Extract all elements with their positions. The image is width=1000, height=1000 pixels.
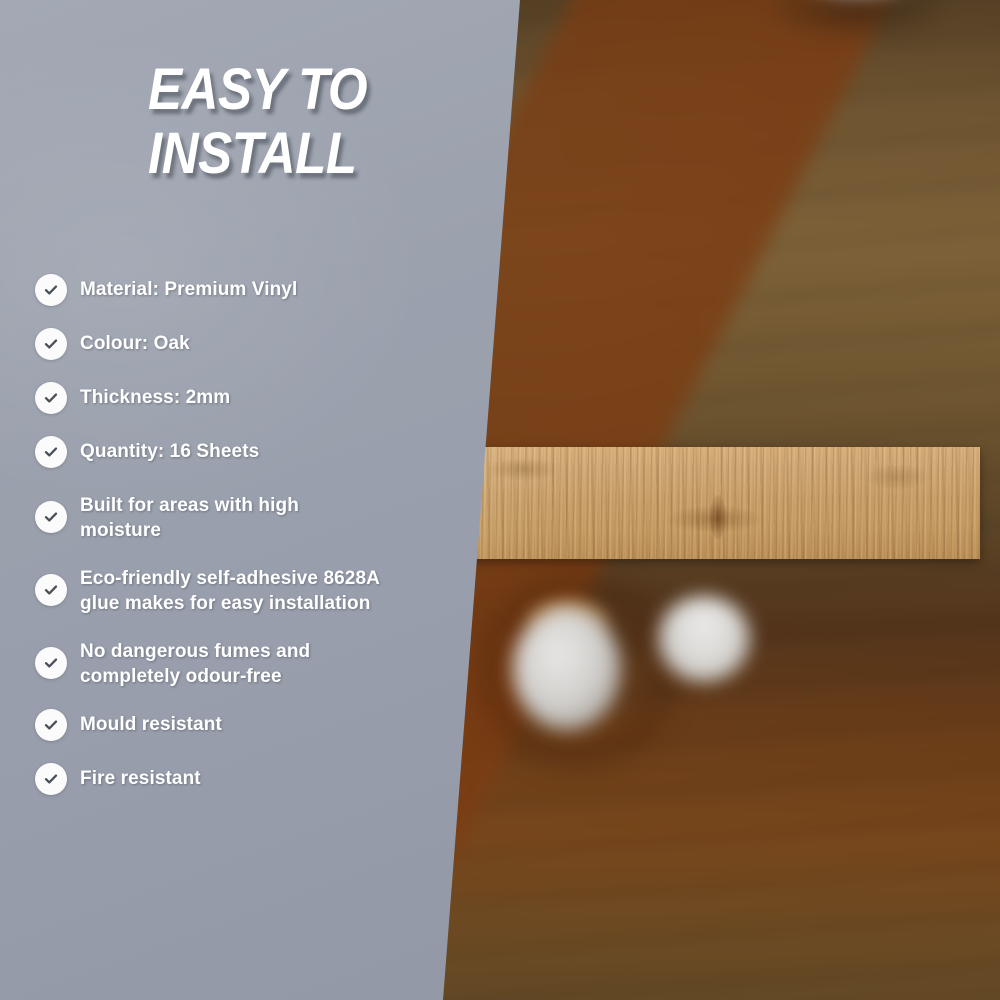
list-item: Fire resistant [35, 763, 395, 795]
feature-label: Material: Premium Vinyl [80, 274, 297, 302]
check-circle-icon [35, 763, 67, 795]
check-circle-icon [35, 647, 67, 679]
list-item: Quantity: 16 Sheets [35, 436, 395, 468]
list-item: No dangerous fumes and completely odour-… [35, 636, 395, 689]
feature-label: Quantity: 16 Sheets [80, 436, 259, 464]
list-item: Material: Premium Vinyl [35, 274, 395, 306]
plank-knot-mark [710, 495, 726, 539]
check-circle-icon [35, 328, 67, 360]
headline: EASY TO INSTALL [148, 58, 438, 186]
feature-label: Thickness: 2mm [80, 382, 230, 410]
list-item: Colour: Oak [35, 328, 395, 360]
check-circle-icon [35, 574, 67, 606]
feature-list: Material: Premium Vinyl Colour: Oak Thic… [35, 274, 395, 817]
check-circle-icon [35, 436, 67, 468]
list-item: Thickness: 2mm [35, 382, 395, 414]
check-circle-icon [35, 382, 67, 414]
product-feature-graphic: EASY TO INSTALL Material: Premium Vinyl … [0, 0, 1000, 1000]
white-pot-left [513, 608, 621, 730]
white-bowl-right [658, 596, 750, 682]
list-item: Mould resistant [35, 709, 395, 741]
feature-label: Built for areas with high moisture [80, 490, 380, 543]
check-circle-icon [35, 501, 67, 533]
feature-label: Colour: Oak [80, 328, 190, 356]
check-circle-icon [35, 274, 67, 306]
feature-label: No dangerous fumes and completely odour-… [80, 636, 380, 689]
headline-line-2: INSTALL [148, 122, 403, 186]
list-item: Eco-friendly self-adhesive 8628A glue ma… [35, 563, 395, 616]
feature-label: Mould resistant [80, 709, 222, 737]
check-circle-icon [35, 709, 67, 741]
feature-label: Fire resistant [80, 763, 201, 791]
list-item: Built for areas with high moisture [35, 490, 395, 543]
feature-label: Eco-friendly self-adhesive 8628A glue ma… [80, 563, 380, 616]
headline-line-1: EASY TO [148, 58, 403, 122]
